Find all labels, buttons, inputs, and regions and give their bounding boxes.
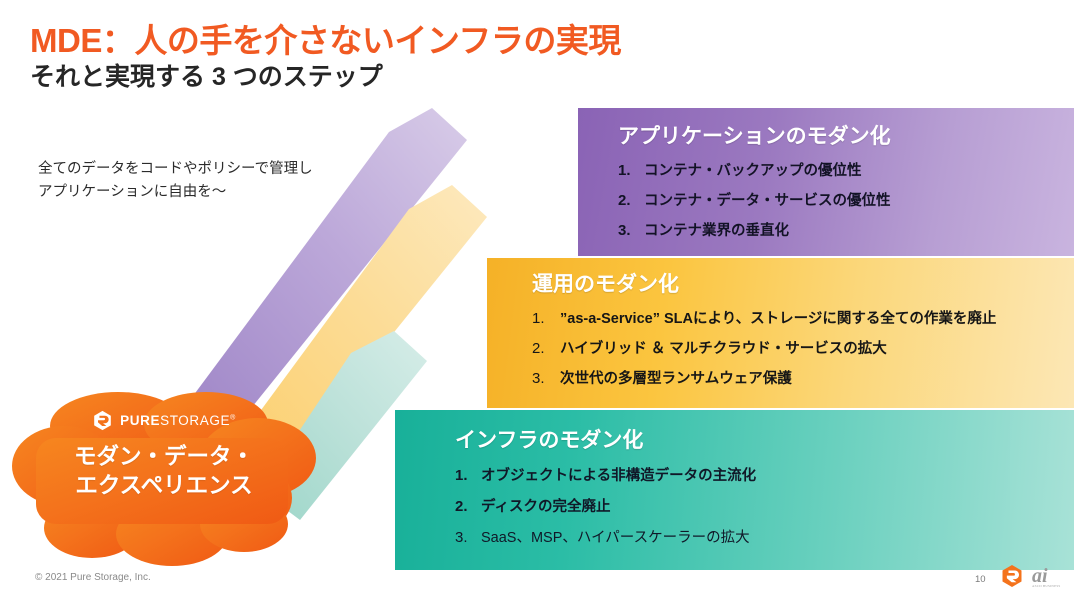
- band-list-infrastructure: 1. オブジェクトによる非構造データの主流化 2. ディスクの完全廃止 3. S…: [455, 464, 1074, 547]
- band-application-modernization: アプリケーションのモダン化 1. コンテナ・バックアップの優位性 2. コンテナ…: [578, 108, 1074, 256]
- left-caption-line-1: 全てのデータをコードやポリシーで管理し: [38, 158, 358, 181]
- band-title-operations: 運用のモダン化: [532, 268, 1074, 298]
- list-number: 1.: [455, 467, 481, 484]
- slide-canvas: MDE：人の手を介さないインフラの実現 それと実現する 3 つのステップ 全ての…: [0, 0, 1074, 600]
- list-text: ディスクの完全廃止: [481, 495, 610, 516]
- brand-pure: PURE: [120, 413, 160, 428]
- purestorage-p-icon: [1000, 564, 1024, 588]
- list-item: 1. ”as-a-Service” SLAにより、ストレージに関する全ての作業を…: [532, 307, 1074, 328]
- list-text: 次世代の多層型ランサムウェア保護: [560, 367, 792, 388]
- footer-logos: ai ASCII BUSINESS: [1000, 564, 1048, 588]
- ai-watermark-logo: ai ASCII BUSINESS: [1032, 566, 1048, 586]
- brand-storage: STORAGE: [160, 413, 230, 428]
- cloud-label-line-1: モダン・データ・: [74, 443, 254, 472]
- page-title: MDE：人の手を介さないインフラの実現: [30, 22, 790, 60]
- purple-ribbon: [190, 108, 467, 432]
- list-item: 1. コンテナ・バックアップの優位性: [618, 159, 1074, 180]
- list-text: コンテナ・データ・サービスの優位性: [644, 189, 891, 210]
- title-block: MDE：人の手を介さないインフラの実現 それと実現する 3 つのステップ: [30, 22, 790, 92]
- purestorage-wordmark: PURESTORAGE®: [120, 413, 236, 428]
- ai-watermark-subtext: ASCII BUSINESS: [1032, 585, 1061, 588]
- page-subtitle: それと実現する 3 つのステップ: [30, 62, 790, 92]
- list-item: 3. SaaS、MSP、ハイパースケーラーの拡大: [455, 526, 1074, 547]
- purestorage-p-icon: [92, 410, 113, 431]
- band-title-infrastructure: インフラのモダン化: [455, 424, 1074, 454]
- copyright-notice: © 2021 Pure Storage, Inc.: [35, 572, 151, 583]
- list-text: コンテナ業界の垂直化: [644, 219, 789, 240]
- left-caption: 全てのデータをコードやポリシーで管理し アプリケーションに自由を〜: [38, 158, 358, 204]
- band-list-operations: 1. ”as-a-Service” SLAにより、ストレージに関する全ての作業を…: [532, 307, 1074, 388]
- band-title-application: アプリケーションのモダン化: [618, 120, 1074, 150]
- left-caption-line-2: アプリケーションに自由を〜: [38, 181, 358, 204]
- list-text: ”as-a-Service” SLAにより、ストレージに関する全ての作業を廃止: [560, 307, 996, 328]
- list-item: 1. オブジェクトによる非構造データの主流化: [455, 464, 1074, 485]
- list-item: 2. コンテナ・データ・サービスの優位性: [618, 189, 1074, 210]
- list-number: 1.: [618, 162, 644, 179]
- list-text: オブジェクトによる非構造データの主流化: [481, 464, 756, 485]
- list-number: 1.: [532, 310, 560, 327]
- band-list-application: 1. コンテナ・バックアップの優位性 2. コンテナ・データ・サービスの優位性 …: [618, 159, 1074, 240]
- cloud-label: モダン・データ・ エクスペリエンス: [74, 443, 254, 501]
- list-number: 2.: [455, 498, 481, 515]
- list-item: 3. コンテナ業界の垂直化: [618, 219, 1074, 240]
- list-item: 2. ハイブリッド ＆ マルチクラウド・サービスの拡大: [532, 337, 1074, 358]
- list-text: コンテナ・バックアップの優位性: [644, 159, 862, 180]
- list-text: SaaS、MSP、ハイパースケーラーの拡大: [481, 526, 750, 547]
- purestorage-logo: PURESTORAGE®: [92, 410, 236, 431]
- list-text: ハイブリッド ＆ マルチクラウド・サービスの拡大: [560, 337, 887, 358]
- cloud-badge: PURESTORAGE® モダン・データ・ エクスペリエンス: [6, 388, 322, 570]
- cloud-label-line-2: エクスペリエンス: [74, 472, 254, 501]
- band-infrastructure-modernization: インフラのモダン化 1. オブジェクトによる非構造データの主流化 2. ディスク…: [395, 410, 1074, 570]
- registered-mark: ®: [230, 415, 236, 422]
- list-number: 3.: [532, 370, 560, 387]
- list-item: 2. ディスクの完全廃止: [455, 495, 1074, 516]
- list-number: 2.: [618, 192, 644, 209]
- list-number: 2.: [532, 340, 560, 357]
- band-operations-modernization: 運用のモダン化 1. ”as-a-Service” SLAにより、ストレージに関…: [487, 258, 1074, 408]
- list-number: 3.: [618, 222, 644, 239]
- list-number: 3.: [455, 529, 481, 546]
- cloud-content: PURESTORAGE® モダン・データ・ エクスペリエンス: [6, 388, 322, 570]
- list-item: 3. 次世代の多層型ランサムウェア保護: [532, 367, 1074, 388]
- page-number: 10: [975, 574, 986, 585]
